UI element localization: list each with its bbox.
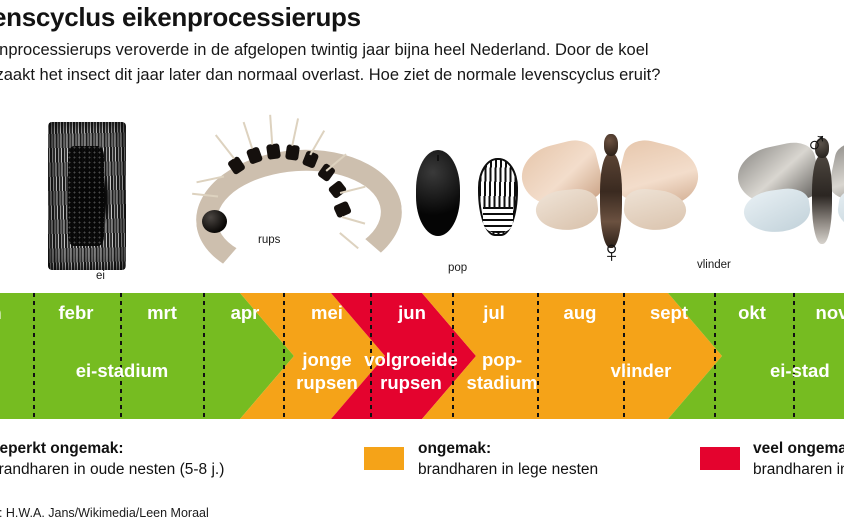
caterpillar-label: rups	[258, 234, 280, 246]
phase-text: vlinder	[611, 360, 672, 381]
pupa-label: pop	[448, 262, 467, 274]
month-label-okt: okt	[712, 302, 792, 324]
phase-label-grown-caterpillars: volgroeide rupsen	[352, 348, 470, 394]
month-label-jul: jul	[454, 302, 534, 324]
phase-label-moth: vlinder	[581, 359, 701, 382]
lifecycle-timeline: n febr mrt apr mei jun jul aug sept okt …	[0, 293, 844, 419]
month-divider	[623, 293, 625, 419]
month-label-jun: jun	[372, 302, 452, 324]
legend-swatch-red	[700, 447, 740, 470]
month-label-febr: febr	[36, 302, 116, 324]
month-divider	[793, 293, 795, 419]
source-credit: n: H.W.A. Jans/Wikimedia/Leen Moraal	[0, 506, 209, 520]
month-label-sept: sept	[629, 302, 709, 324]
illustration-strip: ei rups pop	[0, 110, 844, 293]
month-label-nov: nov	[800, 302, 844, 324]
phase-text: stadium	[456, 371, 548, 394]
month-label-apr: apr	[205, 302, 285, 324]
month-label-jan: n	[0, 302, 36, 324]
intro-line-2: rzaakt het insect dit jaar later dan nor…	[0, 63, 844, 88]
phase-label-egg-late: ei-stad	[770, 359, 844, 382]
phase-text: rupsen	[352, 371, 470, 394]
phase-text: ei-stad	[770, 360, 830, 381]
phase-label-pupa: pop- stadium	[456, 348, 548, 394]
month-label-mrt: mrt	[122, 302, 202, 324]
intro-line-1: enprocessierups veroverde in de afgelope…	[0, 38, 844, 63]
intro-paragraph: enprocessierups veroverde in de afgelope…	[0, 38, 844, 88]
phase-text: pop-	[456, 348, 548, 371]
phase-text: ei-stadium	[76, 360, 169, 381]
legend-subtitle: brandharen in lege nesten	[418, 461, 598, 479]
female-symbol-icon: ♀	[600, 236, 623, 267]
month-label-mei: mei	[287, 302, 367, 324]
page-title: enscyclus eikenprocessierups	[0, 2, 844, 33]
male-symbol-icon: ♂	[805, 126, 828, 157]
legend-item-limited: beperkt ongemak: brandharen in oude nest…	[0, 440, 224, 479]
legend-title: veel ongemak:	[753, 440, 844, 458]
phase-text: volgroeide	[352, 348, 470, 371]
pupa-dark-image	[416, 150, 460, 236]
egg-label: ei	[96, 270, 105, 282]
infographic-page: enscyclus eikenprocessierups enprocessie…	[0, 0, 844, 527]
legend-item-severe: veel ongemak: brandharen in	[753, 440, 844, 479]
legend-item-moderate: ongemak: brandharen in lege nesten	[418, 440, 598, 479]
phase-label-egg-early: ei-stadium	[42, 359, 202, 382]
legend-title: ongemak:	[418, 440, 598, 458]
legend-subtitle: brandharen in	[753, 461, 844, 479]
pupa-striped-image	[478, 158, 518, 236]
egg-on-bark-image	[48, 122, 126, 270]
month-label-aug: aug	[540, 302, 620, 324]
legend-swatch-orange	[364, 447, 404, 470]
moth-label: vlinder	[697, 259, 731, 271]
legend-title: beperkt ongemak:	[0, 440, 224, 458]
legend-subtitle: brandharen in oude nesten (5-8 j.)	[0, 461, 224, 479]
